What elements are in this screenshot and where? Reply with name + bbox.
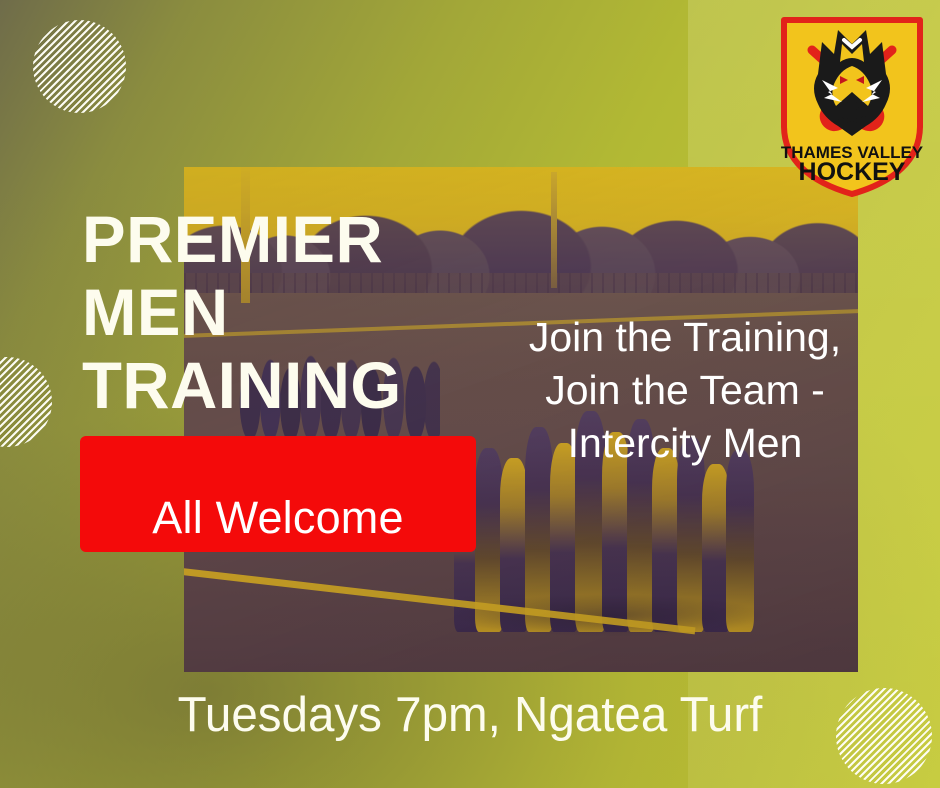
all-welcome-label: All Welcome xyxy=(152,492,403,544)
all-welcome-banner[interactable]: All Welcome xyxy=(80,436,476,552)
tagline-text: Join the Training, Join the Team - Inter… xyxy=(515,311,855,470)
page-title: PREMIER MEN TRAINING xyxy=(82,203,508,422)
poster-canvas: PREMIER MEN TRAINING All Welcome Join th… xyxy=(0,0,940,788)
schedule-text: Tuesdays 7pm, Ngatea Turf xyxy=(14,686,926,744)
club-logo: THAMES VALLEY HOCKEY xyxy=(778,14,926,200)
striped-circle-top-left xyxy=(33,20,126,113)
logo-line-2: HOCKEY xyxy=(799,158,906,186)
